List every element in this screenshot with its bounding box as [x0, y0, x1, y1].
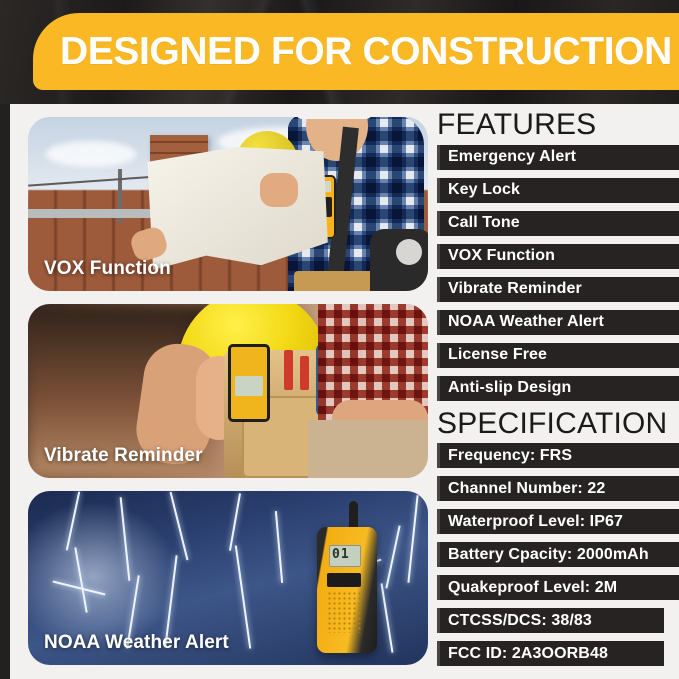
walkie-talkie-product: 01: [313, 503, 381, 653]
photo-vox-function: VOX Function: [28, 117, 428, 291]
walkie-talkie-on-belt: [228, 344, 270, 422]
spec-label: CTCSS/DCS: 38/83: [440, 612, 592, 630]
feature-item: Emergency Alert: [437, 145, 679, 170]
worker-hand: [260, 173, 298, 207]
feature-label: Call Tone: [440, 214, 520, 232]
spec-label: Quakeproof Level: 2M: [440, 579, 617, 597]
spec-item: Frequency: FRS: [437, 443, 679, 468]
feature-label: VOX Function: [440, 247, 555, 265]
feature-label: License Free: [440, 346, 547, 364]
spec-label: Frequency: FRS: [440, 447, 572, 465]
feature-item: NOAA Weather Alert: [437, 310, 679, 335]
specs-column: FEATURES Emergency Alert Key Lock Call T…: [437, 110, 679, 674]
lightning-bolt-icon: [235, 545, 251, 648]
feature-label: Vibrate Reminder: [440, 280, 582, 298]
specification-heading: SPECIFICATION: [437, 409, 679, 440]
lcd-channel-number: 01: [332, 547, 350, 562]
background-worker-hat: [396, 239, 422, 265]
spec-item: FCC ID: 2A3OORB48: [437, 641, 664, 666]
screwdriver-icon: [284, 350, 293, 390]
lightning-bolt-icon: [381, 583, 394, 652]
spec-label: Waterproof Level: IP67: [440, 513, 623, 531]
spec-label: Battery Cpacity: 2000mAh: [440, 546, 649, 564]
features-heading: FEATURES: [437, 110, 679, 141]
feature-label: NOAA Weather Alert: [440, 313, 604, 331]
feature-label: Key Lock: [440, 181, 520, 199]
feature-item: Call Tone: [437, 211, 679, 236]
spec-item: Waterproof Level: IP67: [437, 509, 679, 534]
feature-item: License Free: [437, 343, 679, 368]
worker-pants: [308, 420, 428, 478]
lightning-bolt-icon: [275, 511, 283, 583]
speaker-grille: [327, 591, 363, 633]
photo-vibrate-reminder: Vibrate Reminder: [28, 304, 428, 478]
photo-noaa-weather-alert: 01 NOAA Weather Alert: [28, 491, 428, 665]
feature-label: Anti-slip Design: [440, 379, 571, 397]
feature-item: VOX Function: [437, 244, 679, 269]
header-banner: DESIGNED FOR CONSTRUCTION: [33, 13, 679, 90]
feature-item: Vibrate Reminder: [437, 277, 679, 302]
lightning-bolt-icon: [385, 525, 400, 588]
spec-item: Channel Number: 22: [437, 476, 679, 501]
feature-item: Key Lock: [437, 178, 679, 203]
storm-glow: [28, 501, 178, 651]
photo-column: VOX Function Vibrate Rem: [28, 117, 428, 678]
banner-title: DESIGNED FOR CONSTRUCTION: [60, 30, 672, 74]
ptt-button: [327, 573, 361, 587]
white-hard-hat: [296, 117, 372, 119]
feature-label: Emergency Alert: [440, 148, 576, 166]
spec-item: CTCSS/DCS: 38/83: [437, 608, 664, 633]
photo-caption: VOX Function: [28, 258, 171, 280]
lightning-bolt-icon: [407, 495, 418, 583]
spec-item: Battery Cpacity: 2000mAh: [437, 542, 679, 567]
spec-label: Channel Number: 22: [440, 480, 605, 498]
spec-label: FCC ID: 2A3OORB48: [440, 645, 608, 663]
screwdriver-icon: [300, 356, 309, 390]
feature-item: Anti-slip Design: [437, 376, 679, 401]
content-panel: VOX Function Vibrate Rem: [10, 104, 679, 679]
product-infographic: DESIGNED FOR CONSTRUCTION: [0, 0, 679, 679]
photo-caption: Vibrate Reminder: [28, 445, 203, 467]
lightning-bolt-icon: [229, 493, 241, 550]
spec-item: Quakeproof Level: 2M: [437, 575, 679, 600]
cloud-icon: [46, 141, 136, 167]
photo-caption: NOAA Weather Alert: [28, 632, 229, 654]
